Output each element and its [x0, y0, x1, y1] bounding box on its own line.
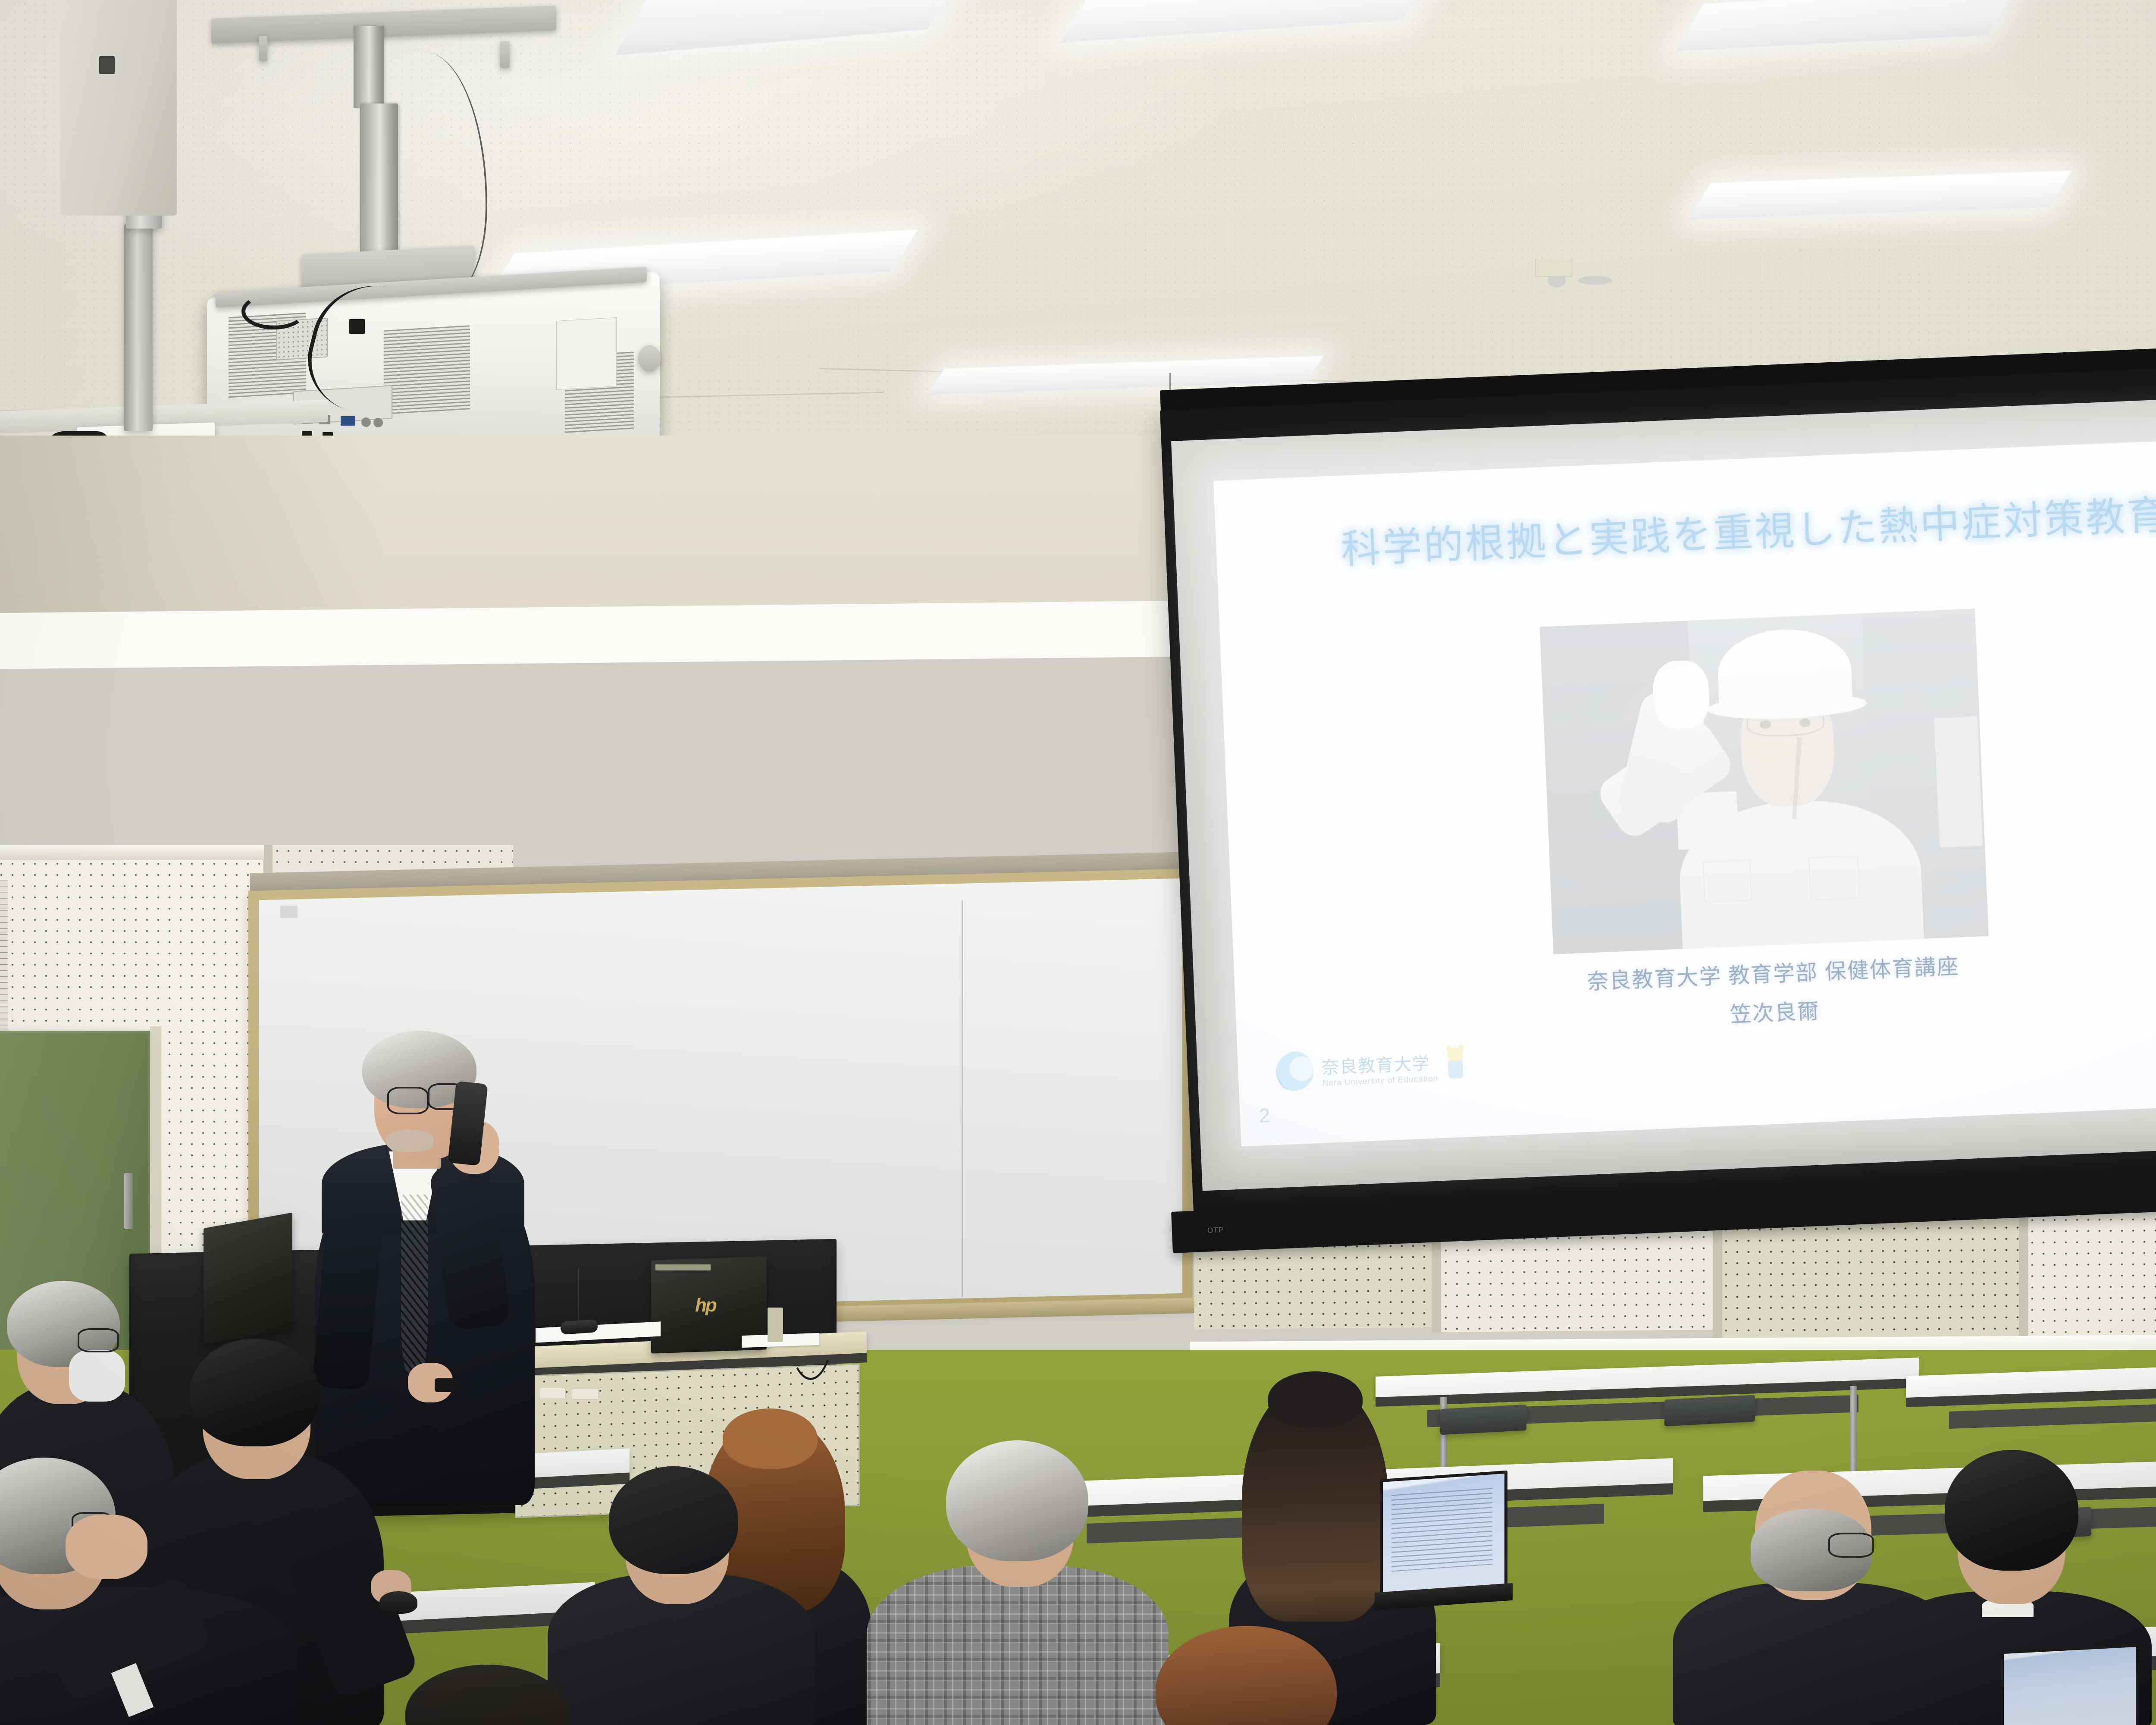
projector-port — [361, 417, 371, 427]
projector-plate-bolt — [500, 41, 510, 68]
attendee-plaid-jacket-grey-hair — [867, 1440, 1194, 1725]
podium-tray — [768, 1308, 783, 1342]
slide-title: 科学的根拠と実践を重視した熱中症対策教育 — [1216, 486, 2156, 578]
attendee-hair — [1156, 1626, 1337, 1725]
sprinkler-plate — [1535, 259, 1572, 277]
screen-brand-label: OTP — [1207, 1226, 1224, 1235]
deer-mascot-icon — [1441, 1044, 1470, 1087]
laptop-audience-1[interactable] — [1380, 1475, 1509, 1617]
attendee-dark-suit-center — [548, 1466, 832, 1725]
attendee-hair-crown — [1268, 1371, 1363, 1427]
door-handle[interactable] — [124, 1173, 133, 1229]
attendee-hair-crown — [723, 1408, 818, 1469]
attendee-grey-hair-hands-clasped — [0, 1458, 336, 1725]
face-mask — [69, 1350, 125, 1402]
laptop-audience-2[interactable] — [2001, 1647, 2143, 1725]
computer-mouse[interactable] — [379, 1591, 417, 1614]
attendee-plaid-jacket — [867, 1565, 1169, 1725]
projector-lens-barrel — [638, 345, 661, 372]
panel-rail — [0, 845, 272, 860]
projector-plate-bolt — [259, 36, 267, 61]
worker-pocket — [1703, 860, 1752, 903]
university-logo: 奈良教育大学 Nara University of Education — [1275, 1044, 1470, 1094]
speaker-box — [60, 0, 177, 216]
camera-pole — [124, 224, 153, 431]
laptop-brand-strip — [655, 1264, 711, 1270]
laptop-screen — [1380, 1471, 1507, 1593]
laptop-screen-content — [1391, 1488, 1492, 1572]
laptop-lid-stage[interactable] — [204, 1213, 292, 1345]
logo-text: 奈良教育大学 Nara University of Education — [1321, 1049, 1438, 1088]
attendee-edge-bottom-left — [405, 1665, 586, 1725]
projection-screen: 科学的根拠と実践を重視した熱中症対策教育 — [1160, 390, 2156, 1490]
attendee-hands-clasped — [66, 1515, 147, 1579]
worker-glove — [1651, 659, 1711, 731]
projector-port — [341, 416, 355, 426]
presenter-glasses — [387, 1087, 429, 1114]
projected-slide: 科学的根拠と実践を重視した熱中症対策教育 — [1213, 436, 2156, 1146]
attendee-glasses — [78, 1328, 119, 1352]
laptop-screen — [2001, 1644, 2139, 1725]
photo-window — [1934, 716, 1983, 847]
projector-port — [373, 418, 383, 427]
projector-mount-pole — [354, 26, 384, 108]
slide-page-number: 2 — [1259, 1104, 1271, 1127]
attendee-glasses — [1828, 1533, 1874, 1558]
laptop-hp-logo: hp — [695, 1295, 716, 1316]
speaker-box-vent — [99, 56, 115, 74]
whiteboard-brand-label — [280, 906, 298, 918]
presentation-clicker[interactable] — [435, 1378, 458, 1392]
attendee-hair — [946, 1440, 1088, 1561]
sprinkler-head — [1578, 276, 1612, 285]
attendee-reddish-hair-bottom — [1156, 1626, 1363, 1725]
sprinkler-head — [1548, 276, 1565, 287]
attendee-hair — [1945, 1450, 2078, 1571]
projector-cable — [241, 293, 306, 329]
attendee-hair — [190, 1339, 319, 1446]
worker-pocket — [1808, 855, 1860, 900]
lecture-hall-scene: 科学的根拠と実践を重視した熱中症対策教育 — [0, 0, 2156, 1725]
attendee-hair — [609, 1466, 738, 1574]
slide-photo — [1540, 608, 1989, 954]
projector-spec-label — [556, 317, 617, 390]
whiteboard-panel-seam — [962, 900, 963, 1297]
logo-mark-icon — [1275, 1051, 1319, 1094]
chair[interactable] — [1664, 1395, 1755, 1426]
presenter-beard — [386, 1130, 434, 1152]
attendee-hair — [405, 1665, 569, 1725]
